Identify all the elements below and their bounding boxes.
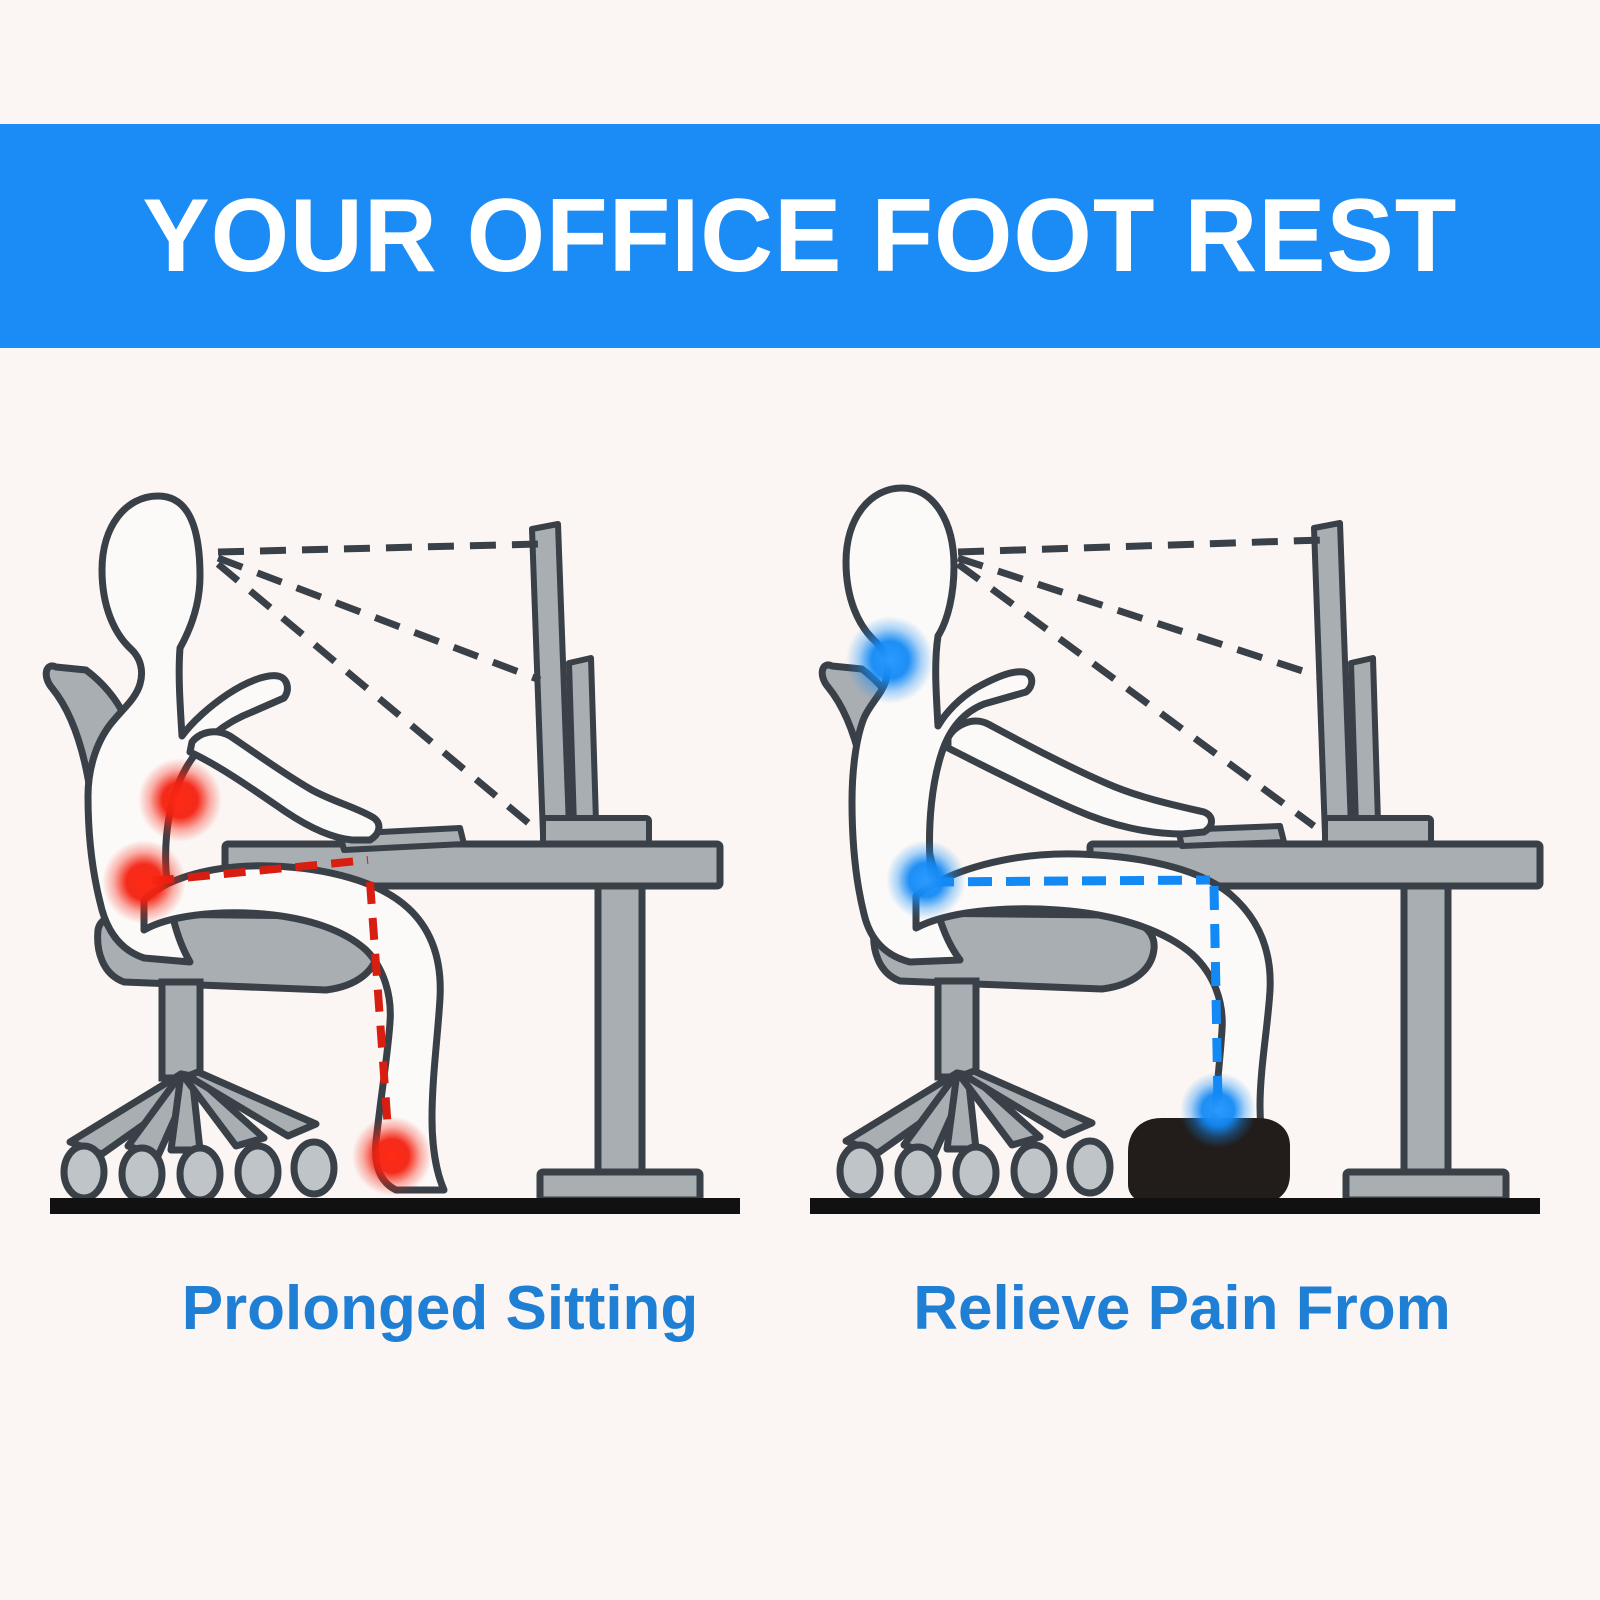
- person-arm-right: [948, 721, 1212, 834]
- caption-relieve-pain-from: Relieve Pain From: [802, 1275, 1562, 1343]
- relief-point-upper-back-right: [846, 616, 934, 704]
- panel-relieve-pain-from: Relieve Pain From: [790, 430, 1550, 1440]
- panel-prolonged-sitting: Prolonged Sitting: [40, 430, 800, 1440]
- desk-leg-left: [598, 886, 642, 1172]
- chair-caster-2-right: [898, 1147, 938, 1199]
- chair-cylinder-left: [162, 982, 200, 1078]
- chair-caster-3-left: [180, 1148, 220, 1200]
- chair-caster-2-left: [122, 1148, 162, 1200]
- poster-root: YOUR OFFICE FOOT REST: [0, 0, 1600, 1600]
- pain-point-lower-back-left: [102, 840, 186, 924]
- chair-cylinder-right: [938, 981, 976, 1077]
- monitor-screen-right: [1314, 523, 1351, 835]
- chair-caster-3-right: [956, 1147, 996, 1199]
- relief-point-ankle-right: [1180, 1072, 1256, 1148]
- header-banner: YOUR OFFICE FOOT REST: [0, 124, 1600, 348]
- illustration-prolonged-sitting: [40, 430, 800, 1270]
- chair-caster-4-left: [238, 1146, 278, 1198]
- monitor-neck-right: [1351, 658, 1378, 826]
- desk-foot-left: [540, 1172, 700, 1200]
- page-title: YOUR OFFICE FOOT REST: [142, 184, 1457, 288]
- desk-group-left: [225, 524, 720, 1200]
- chair-caster-1-left: [64, 1146, 104, 1198]
- pain-point-upper-back-left: [138, 758, 222, 842]
- caption-prolonged-sitting: Prolonged Sitting: [60, 1275, 820, 1343]
- floor-line-right: [810, 1198, 1540, 1214]
- chair-caster-4-right: [1014, 1145, 1054, 1197]
- monitor-neck-left: [569, 658, 596, 826]
- desk-foot-right: [1346, 1172, 1506, 1200]
- pain-point-ankle-left: [352, 1116, 432, 1196]
- chair-caster-5-right: [1070, 1141, 1110, 1193]
- illustration-relieve-pain-from: [790, 430, 1550, 1270]
- chair-caster-1-right: [840, 1145, 880, 1197]
- chair-caster-5-left: [294, 1142, 334, 1194]
- relief-point-lower-back-right: [886, 840, 966, 920]
- floor-line-left: [50, 1198, 740, 1214]
- desk-leg-right: [1404, 886, 1448, 1172]
